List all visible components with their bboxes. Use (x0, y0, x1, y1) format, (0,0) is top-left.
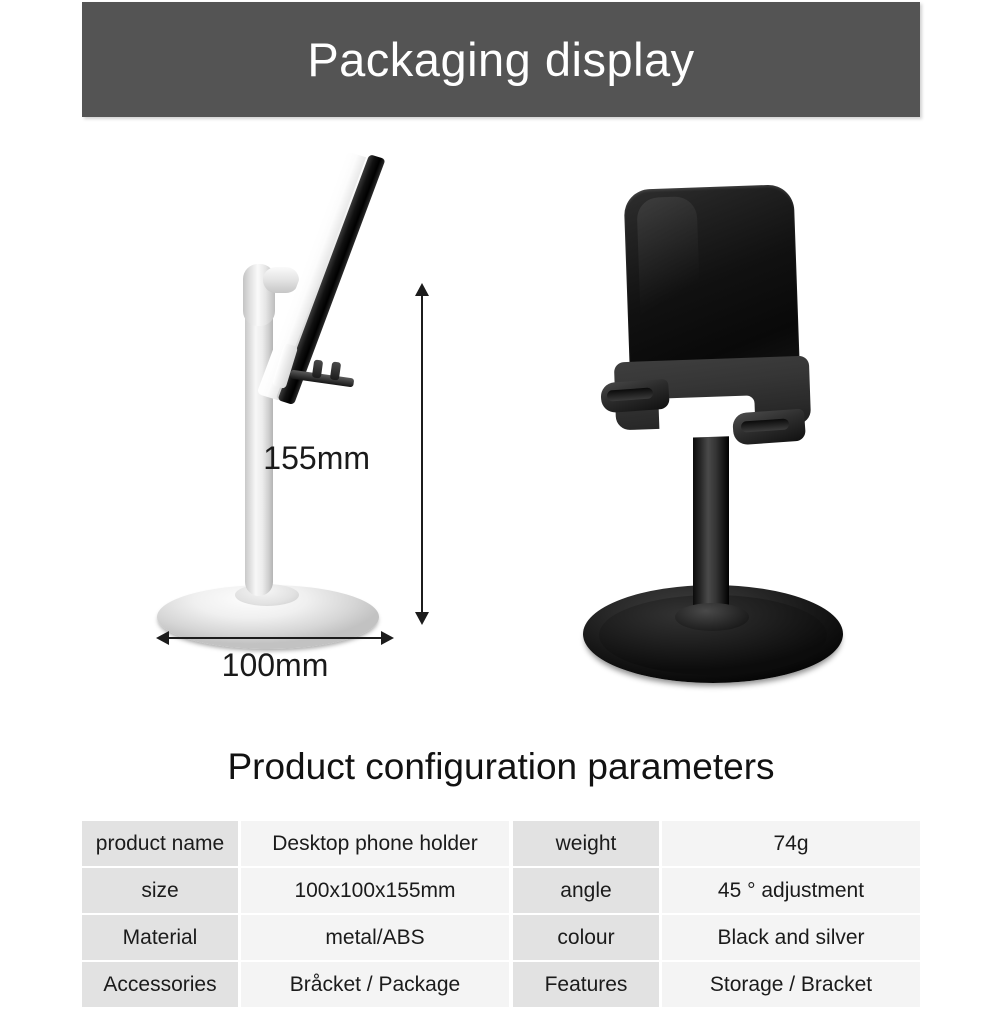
height-arrow-bottom-head (415, 612, 429, 625)
spec-value: 100x100x155mm (241, 868, 509, 913)
table-row: size 100x100x155mm angle 45 ° adjustment (82, 868, 920, 913)
spec-value: Bråcket / Package (241, 962, 509, 1007)
spec-value: 45 ° adjustment (662, 868, 920, 913)
section-heading: Product configuration parameters (227, 746, 774, 788)
spec-value: metal/ABS (241, 915, 509, 960)
black-phone-stand-image (555, 173, 895, 683)
width-dimension-line (168, 637, 382, 639)
spec-label: Accessories (82, 962, 238, 1007)
spec-label: weight (513, 821, 659, 866)
table-row: Accessories Bråcket / Package Features S… (82, 962, 920, 1007)
spec-value: 74g (662, 821, 920, 866)
height-dimension-line (421, 288, 423, 622)
table-row: Material metal/ABS colour Black and silv… (82, 915, 920, 960)
table-row: product name Desktop phone holder weight… (82, 821, 920, 866)
spec-value: Black and silver (662, 915, 920, 960)
spec-value: Desktop phone holder (241, 821, 509, 866)
spec-value: Storage / Bracket (662, 962, 920, 1007)
black-column-hub (675, 603, 749, 631)
silver-backing-plate (239, 136, 471, 441)
packaging-display-banner: Packaging display (82, 2, 920, 117)
spec-label: Material (82, 915, 238, 960)
spec-label: product name (82, 821, 238, 866)
product-spec-table: product name Desktop phone holder weight… (82, 821, 920, 1009)
spec-label: colour (513, 915, 659, 960)
black-plate-gloss (636, 196, 701, 348)
width-arrow-right-head (381, 631, 394, 645)
spec-label: size (82, 868, 238, 913)
product-detail-page: Packaging display (0, 0, 1002, 1002)
silver-phone-stand-image (130, 148, 430, 668)
width-dimension-label: 100mm (222, 647, 329, 684)
spec-label: Features (513, 962, 659, 1007)
black-column (693, 417, 729, 623)
product-showcase (0, 118, 1002, 726)
banner-title: Packaging display (307, 36, 694, 83)
spec-label: angle (513, 868, 659, 913)
height-dimension-label: 155mm (263, 440, 370, 477)
